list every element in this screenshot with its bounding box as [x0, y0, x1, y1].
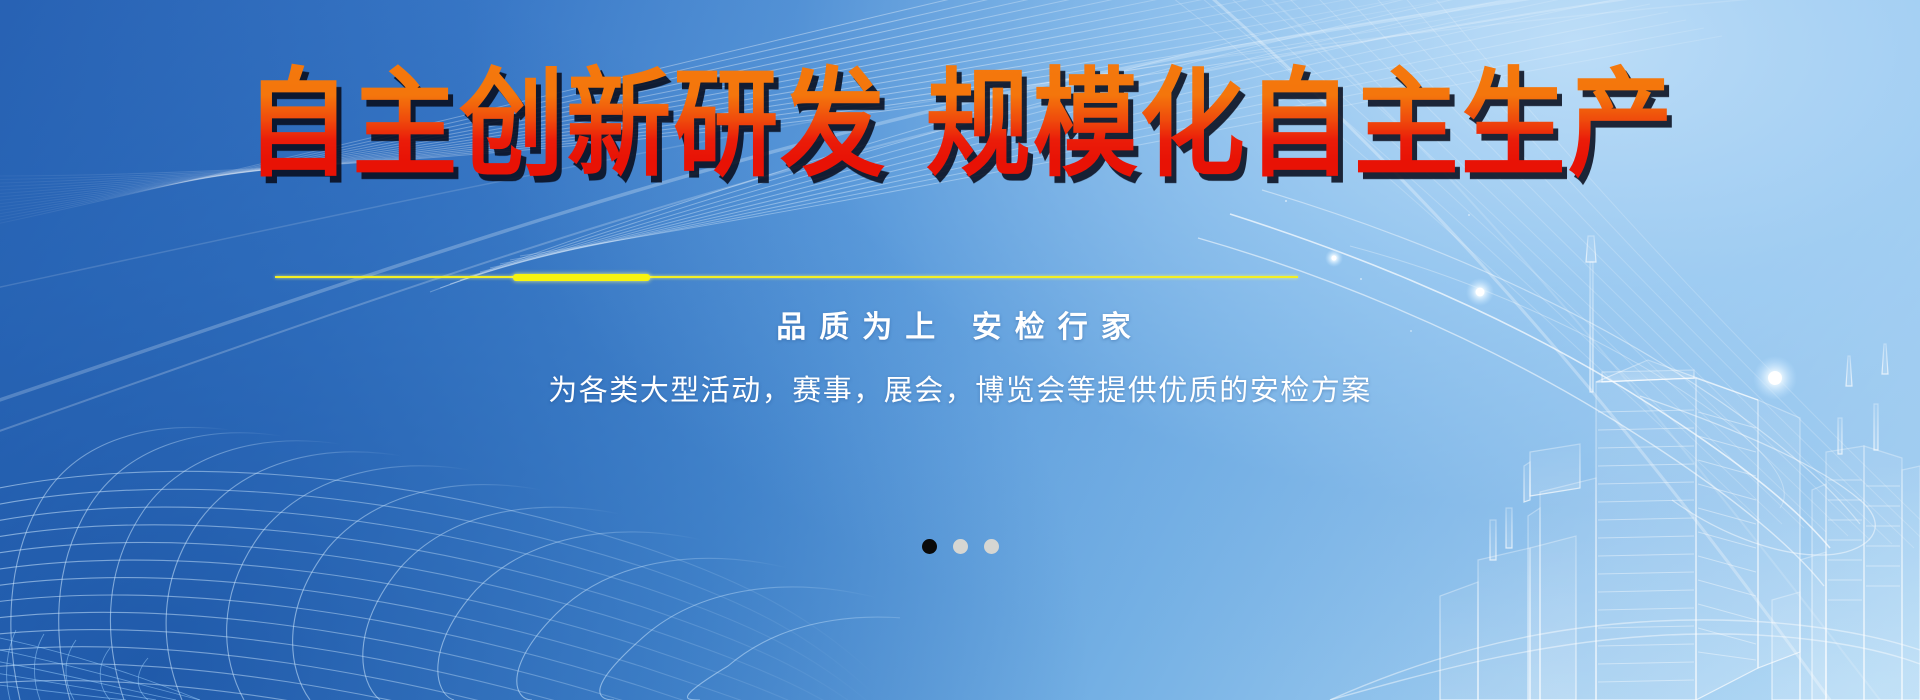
sparkle-dot — [1468, 214, 1470, 216]
carousel-dot-2[interactable] — [953, 539, 968, 554]
divider-thick-segment — [513, 274, 650, 281]
carousel-dot-1[interactable] — [922, 539, 937, 554]
hero-banner: 自主创新研发 规模化自主生产 品质为上 安检行家 为各类大型活动，赛事，展会，博… — [0, 0, 1920, 700]
banner-subtitle-primary: 品质为上 安检行家 — [0, 305, 1920, 350]
yellow-accent-divider — [275, 274, 1298, 280]
title-container: 自主创新研发 规模化自主生产 — [0, 62, 1920, 175]
banner-main-title: 自主创新研发 规模化自主生产 — [245, 62, 1675, 189]
subtitle-container: 品质为上 安检行家 为各类大型活动，赛事，展会，博览会等提供优质的安检方案 — [0, 305, 1920, 411]
carousel-dot-3[interactable] — [984, 539, 999, 554]
divider-thin-line — [275, 276, 1298, 278]
sparkle-dot — [1285, 200, 1287, 202]
sparkle-dot — [1360, 278, 1362, 280]
banner-subtitle-secondary: 为各类大型活动，赛事，展会，博览会等提供优质的安检方案 — [0, 370, 1920, 411]
carousel-dots[interactable] — [0, 539, 1920, 554]
